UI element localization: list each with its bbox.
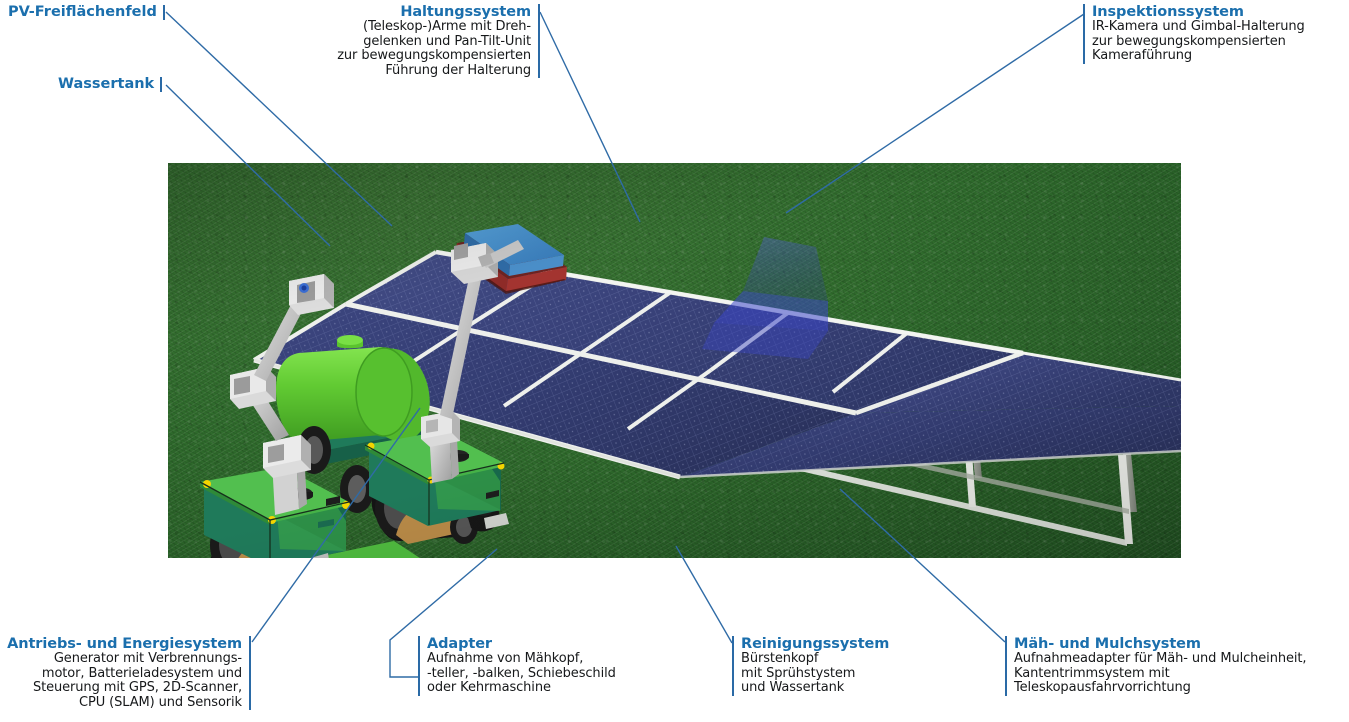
callout-line: Kantentrimmsystem mit: [1014, 667, 1349, 682]
scene-image: [168, 163, 1181, 558]
callout-line: Aufnahme von Mähkopf,: [427, 652, 668, 667]
callout-body: (Teleskop-)Arme mit Dreh- gelenken und P…: [248, 20, 531, 78]
callout-reinigungssystem: Reinigungssystem Bürstenkopf mit Sprühst…: [732, 636, 972, 696]
callout-title: Haltungssystem: [248, 4, 531, 20]
callout-title: Inspektionssystem: [1092, 4, 1349, 20]
leader-reinigungssystem: [676, 546, 732, 643]
callout-maeh-und-mulchsystem: Mäh- und Mulchsystem Aufnahmeadapter für…: [1005, 636, 1349, 696]
callout-line: CPU (SLAM) und Sensorik: [0, 696, 242, 711]
callout-body: IR-Kamera und Gimbal-Halterung zur beweg…: [1092, 20, 1349, 64]
callout-title: Mäh- und Mulchsystem: [1014, 636, 1349, 652]
callout-body: Aufnahme von Mähkopf, -teller, -balken, …: [427, 652, 668, 696]
callout-pv-freiflaechenfeld: PV-Freiflächenfeld: [8, 4, 165, 20]
callout-line: mit Sprühstystem: [741, 667, 972, 682]
callout-title: Reinigungssystem: [741, 636, 972, 652]
callout-line: Teleskopausfahrvorrichtung: [1014, 681, 1349, 696]
callout-line: Generator mit Verbrennungs-: [0, 652, 242, 667]
callout-line: und Wassertank: [741, 681, 972, 696]
callout-inspektionssystem: Inspektionssystem IR-Kamera und Gimbal-H…: [1083, 4, 1349, 64]
callout-body: Generator mit Verbrennungs- motor, Batte…: [0, 652, 242, 710]
callout-line: Aufnahmeadapter für Mäh- und Mulcheinhei…: [1014, 652, 1349, 667]
callout-line: oder Kehrmaschine: [427, 681, 668, 696]
callout-line: Bürstenkopf: [741, 652, 972, 667]
callout-title: Antriebs- und Energiesystem: [0, 636, 242, 652]
callout-line: -teller, -balken, Schiebeschild: [427, 667, 668, 682]
diagram-root: PV-Freiflächenfeld Wassertank Haltungssy…: [0, 0, 1349, 722]
callout-title: Wassertank: [58, 76, 154, 92]
callout-line: (Teleskop-)Arme mit Dreh-: [248, 20, 531, 35]
callout-line: Steuerung mit GPS, 2D-Scanner,: [0, 681, 242, 696]
callout-adapter: Adapter Aufnahme von Mähkopf, -teller, -…: [418, 636, 668, 696]
callout-title: PV-Freiflächenfeld: [8, 4, 157, 20]
scene-vignette: [168, 163, 1181, 558]
callout-haltungssystem: Haltungssystem (Teleskop-)Arme mit Dreh-…: [248, 4, 540, 78]
callout-line: zur bewegungskompensierten: [1092, 35, 1349, 50]
callout-line: IR-Kamera und Gimbal-Halterung: [1092, 20, 1349, 35]
callout-title: Adapter: [427, 636, 668, 652]
callout-line: motor, Batterieladesystem und: [0, 667, 242, 682]
callout-body: Aufnahmeadapter für Mäh- und Mulcheinhei…: [1014, 652, 1349, 696]
callout-line: Kameraführung: [1092, 49, 1349, 64]
callout-tick: [160, 77, 162, 92]
callout-line: gelenken und Pan-Tilt-Unit: [248, 35, 531, 50]
callout-antriebs-und-energiesystem: Antriebs- und Energiesystem Generator mi…: [0, 636, 251, 710]
callout-line: Führung der Halterung: [248, 64, 531, 79]
callout-line: zur bewegungskompensierten: [248, 49, 531, 64]
callout-wassertank: Wassertank: [58, 76, 162, 92]
callout-tick: [163, 5, 165, 20]
callout-body: Bürstenkopf mit Sprühstystem und Wassert…: [741, 652, 972, 696]
